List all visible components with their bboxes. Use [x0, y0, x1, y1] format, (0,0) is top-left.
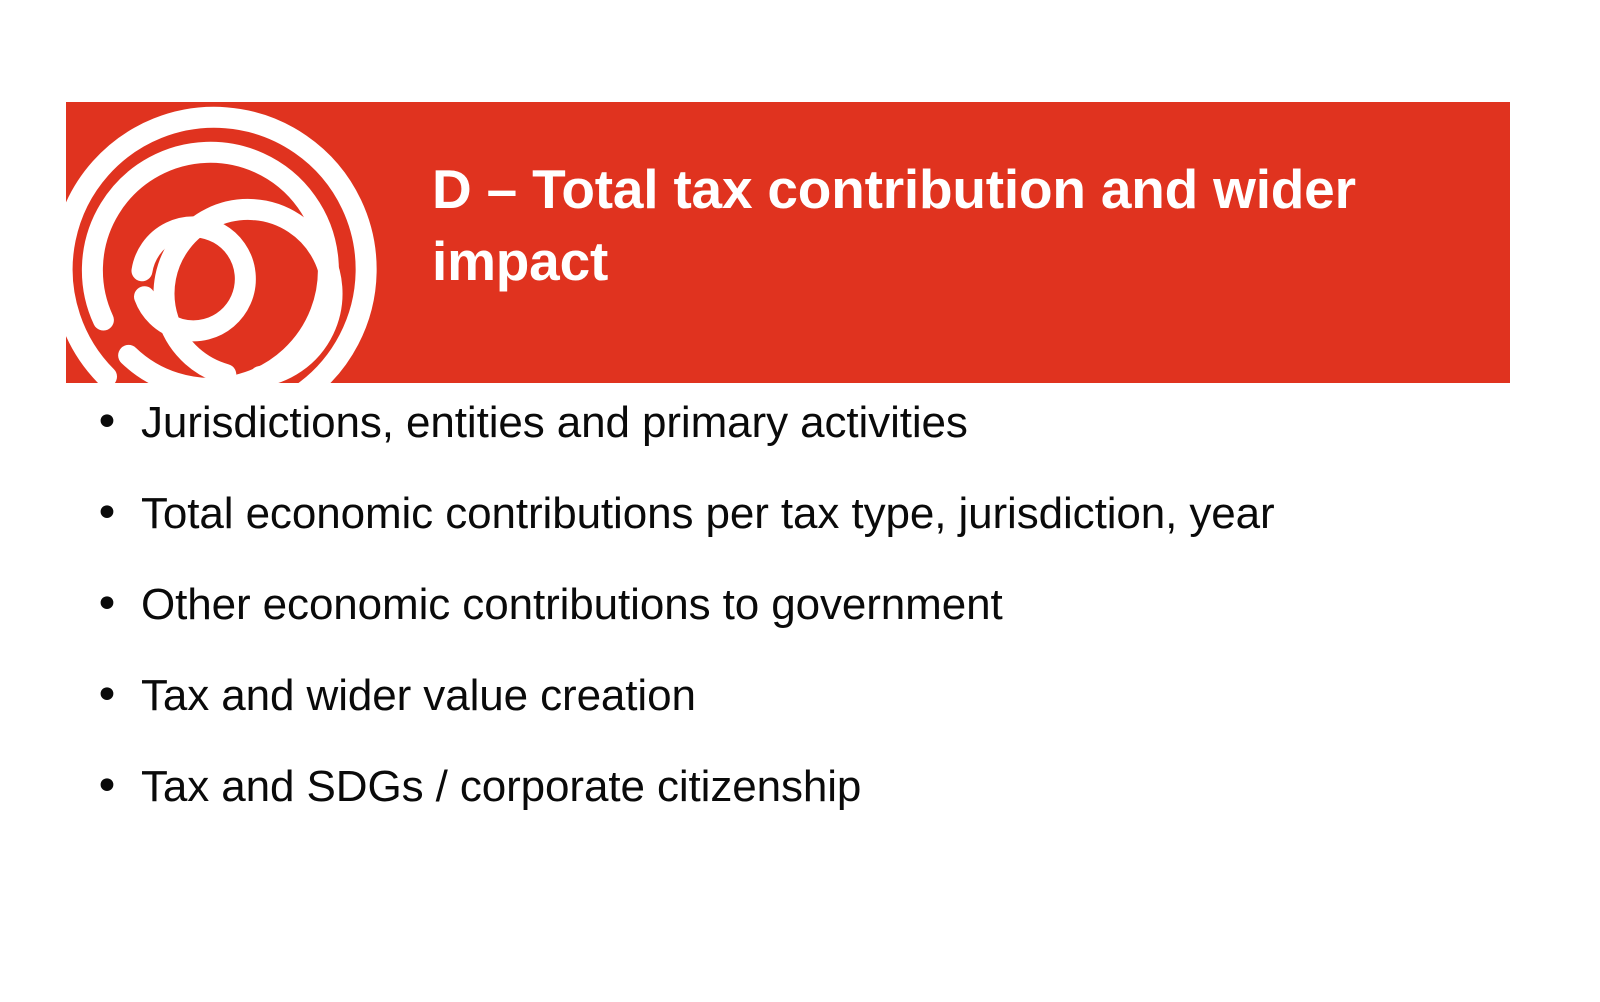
bullet-point-icon: •: [86, 574, 141, 636]
page-title: D – Total tax contribution and wider imp…: [432, 154, 1472, 297]
concentric-spiral-rings-icon: [66, 102, 416, 383]
list-item-label: Other economic contributions to governme…: [141, 574, 1301, 636]
slide-canvas: D – Total tax contribution and wider imp…: [0, 0, 1600, 1002]
bullet-point-icon: •: [86, 483, 141, 545]
list-item: • Total economic contributions per tax t…: [86, 483, 1546, 545]
list-item: • Other economic contributions to govern…: [86, 574, 1546, 636]
list-item: • Jurisdictions, entities and primary ac…: [86, 392, 1546, 454]
bullet-list: • Jurisdictions, entities and primary ac…: [86, 392, 1546, 818]
header-banner: D – Total tax contribution and wider imp…: [66, 102, 1510, 383]
bullet-point-icon: •: [86, 392, 141, 454]
bullet-point-icon: •: [86, 665, 141, 727]
list-item-label: Tax and SDGs / corporate citizenship: [141, 756, 1301, 818]
bullet-point-icon: •: [86, 756, 141, 818]
list-item-label: Total economic contributions per tax typ…: [141, 483, 1301, 545]
list-item: • Tax and SDGs / corporate citizenship: [86, 756, 1546, 818]
list-item-label: Tax and wider value creation: [141, 665, 1301, 727]
list-item-label: Jurisdictions, entities and primary acti…: [141, 392, 1301, 454]
list-item: • Tax and wider value creation: [86, 665, 1546, 727]
